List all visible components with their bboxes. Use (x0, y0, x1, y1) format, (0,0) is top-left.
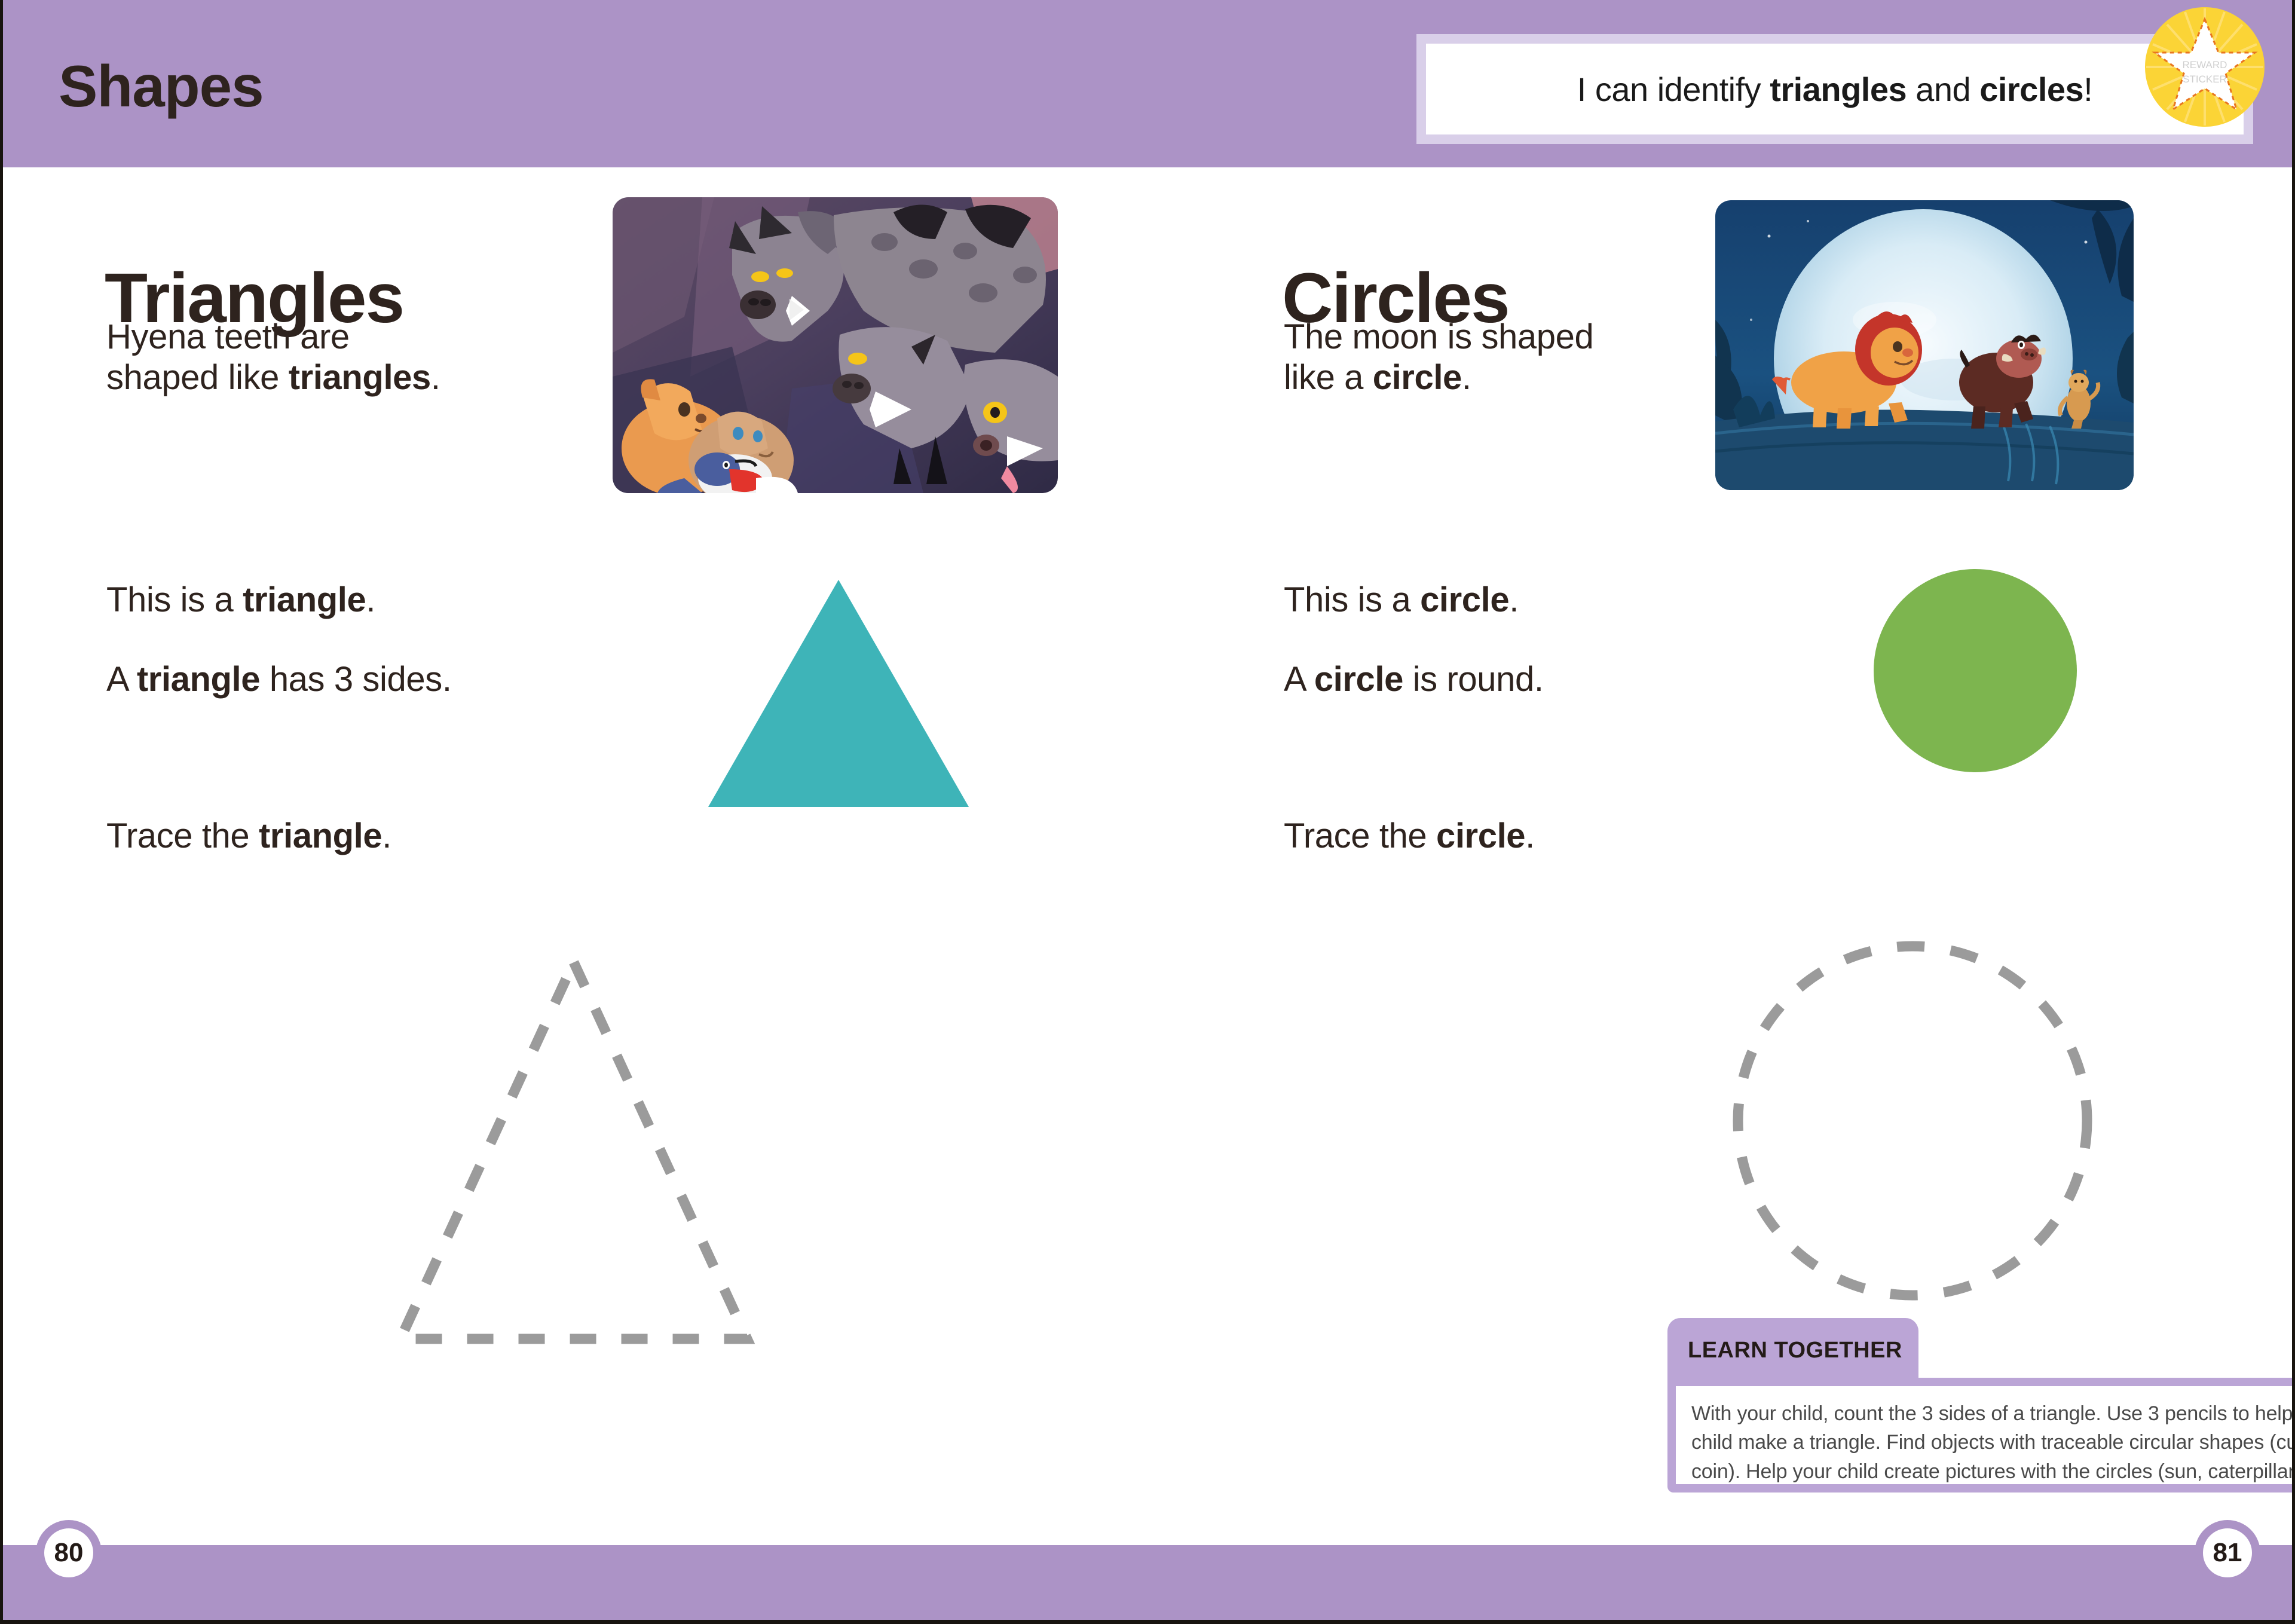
circle-stmt1-pre: This is a (1284, 580, 1420, 619)
circles-intro-bold: circle (1373, 358, 1462, 397)
page-number-left: 80 (36, 1520, 102, 1586)
learn-together-body: With your child, count the 3 sides of a … (1691, 1399, 2295, 1486)
workbook-spread: Shapes I can identify triangles and circ… (0, 0, 2295, 1624)
goal-banner: I can identify triangles and circles! (1416, 34, 2253, 144)
circle-statement-1: This is a circle. (1284, 580, 1519, 620)
page-edge-left (0, 0, 3, 1624)
circle-stmt3-pre: Trace the (1284, 816, 1436, 855)
triangle-stmt3-pre: Trace the (106, 816, 259, 855)
example-circle-shape (1874, 569, 2077, 772)
triangle-stmt2-pre: A (106, 660, 137, 699)
circle-stmt1-bold: circle (1420, 580, 1509, 619)
triangle-stmt2-bold: triangle (137, 660, 260, 699)
triangles-intro-post: . (431, 358, 440, 397)
triangle-stmt1-bold: triangle (243, 580, 366, 619)
triangle-statement-1: This is a triangle. (106, 580, 375, 620)
example-triangle-shape (708, 580, 969, 807)
learn-together-box-inner: With your child, count the 3 sides of a … (1676, 1386, 2295, 1484)
triangle-trace-instruction: Trace the triangle. (106, 816, 391, 856)
triangle-stmt3-post: . (382, 816, 391, 855)
trace-circle-outline[interactable] (1721, 929, 2104, 1312)
circle-stmt1-post: . (1509, 580, 1519, 619)
footer-band (0, 1545, 2295, 1620)
goal-text-triangles: triangles (1770, 71, 1907, 108)
page-edge-bottom (0, 1620, 2295, 1624)
triangle-statement-2: A triangle has 3 sides. (106, 659, 452, 699)
circle-statement-2: A circle is round. (1284, 659, 1544, 699)
learn-together-box: With your child, count the 3 sides of a … (1667, 1378, 2295, 1493)
page-edge-right (2292, 0, 2295, 1624)
moon-photo (1715, 200, 2134, 490)
hyenas-photo (613, 197, 1058, 493)
trace-triangle-outline[interactable] (335, 944, 813, 1375)
learn-together-callout: LEARN TOGETHER With your child, count th… (1667, 1318, 2295, 1500)
circle-stmt2-post: is round. (1403, 660, 1544, 699)
learn-together-tab-label: LEARN TOGETHER (1667, 1338, 1902, 1363)
triangles-intro-bold: triangles (289, 358, 431, 397)
triangle-stmt1-post: . (366, 580, 375, 619)
learn-together-tab: LEARN TOGETHER (1667, 1318, 1918, 1383)
goal-text-pre: I can identify (1577, 71, 1770, 108)
triangle-stmt2-post: has 3 sides. (260, 660, 451, 699)
circle-stmt2-pre: A (1284, 660, 1314, 699)
circles-intro: The moon is shaped like a circle. (1284, 317, 1601, 399)
sticker-label-line2: STICKER (2183, 74, 2227, 85)
goal-banner-inner: I can identify triangles and circles! (1426, 44, 2244, 134)
triangle-stmt1-pre: This is a (106, 580, 243, 619)
triangles-intro: Hyena teeth are shaped like triangles. (106, 317, 441, 399)
goal-text-post: ! (2083, 71, 2092, 108)
circle-stmt2-bold: circle (1314, 660, 1403, 699)
page-title: Shapes (59, 57, 264, 115)
reward-sticker-badge[interactable]: REWARD STICKER (2143, 5, 2267, 129)
page-number-right: 81 (2195, 1520, 2260, 1586)
goal-statement: I can identify triangles and circles! (1577, 70, 2093, 109)
triangle-stmt3-bold: triangle (259, 816, 382, 855)
circles-intro-post: . (1462, 358, 1471, 397)
page-body: Triangles Hyena teeth are shaped like tr… (0, 167, 2295, 1545)
circle-trace-instruction: Trace the circle. (1284, 816, 1535, 856)
goal-text-circles: circles (1979, 71, 2083, 108)
sticker-label-line1: REWARD (2183, 59, 2227, 71)
circle-stmt3-bold: circle (1436, 816, 1525, 855)
goal-text-mid: and (1907, 71, 1979, 108)
circle-stmt3-post: . (1525, 816, 1535, 855)
